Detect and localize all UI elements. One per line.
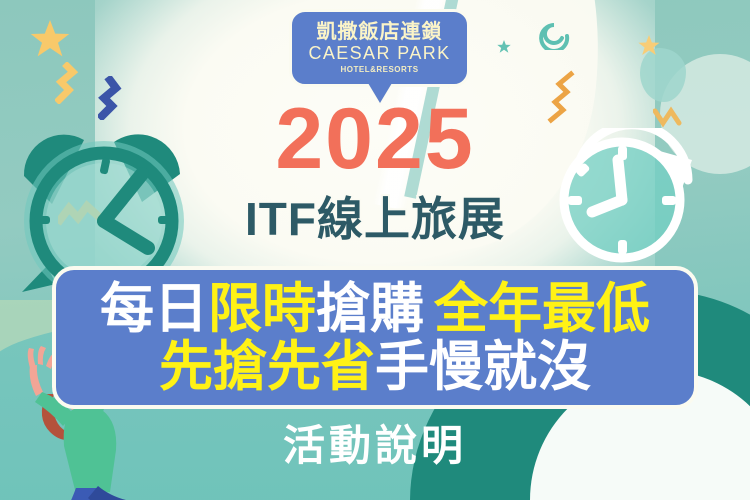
promo-line2-part2: 手慢就沒 [375,337,591,397]
caesar-park-logo-bubble[interactable]: 凱撒飯店連鎖 CAESAR PARK HOTEL&RESORTS [289,9,470,87]
promotional-banner: 凱撒飯店連鎖 CAESAR PARK HOTEL&RESORTS 2025 IT… [0,0,750,500]
headline-subtitle: ITF線上旅展 [0,196,750,242]
logo-tagline: HOTEL&RESORTS [340,65,418,74]
promo-line2-part1: 先搶先省 [159,337,375,397]
promo-line-2: 先搶先省手慢就沒 [159,339,591,397]
promo-line1-part4: 全年最低 [434,279,650,339]
spiral-icon [534,8,576,50]
promo-line-1: 每日限時搶購全年最低 [100,281,650,339]
promo-line1-part1: 每日 [100,279,208,339]
promo-line1-part3: 搶購 [316,279,424,339]
logo-name-en: CAESAR PARK [308,44,450,64]
headline-year: 2025 [0,96,750,182]
cta-label[interactable]: 活動說明 [0,425,750,467]
promo-line1-part2: 限時 [208,279,316,339]
promo-banner: 每日限時搶購全年最低 先搶先省手慢就沒 [52,266,698,409]
logo-name-cn: 凱撒飯店連鎖 [317,22,443,43]
